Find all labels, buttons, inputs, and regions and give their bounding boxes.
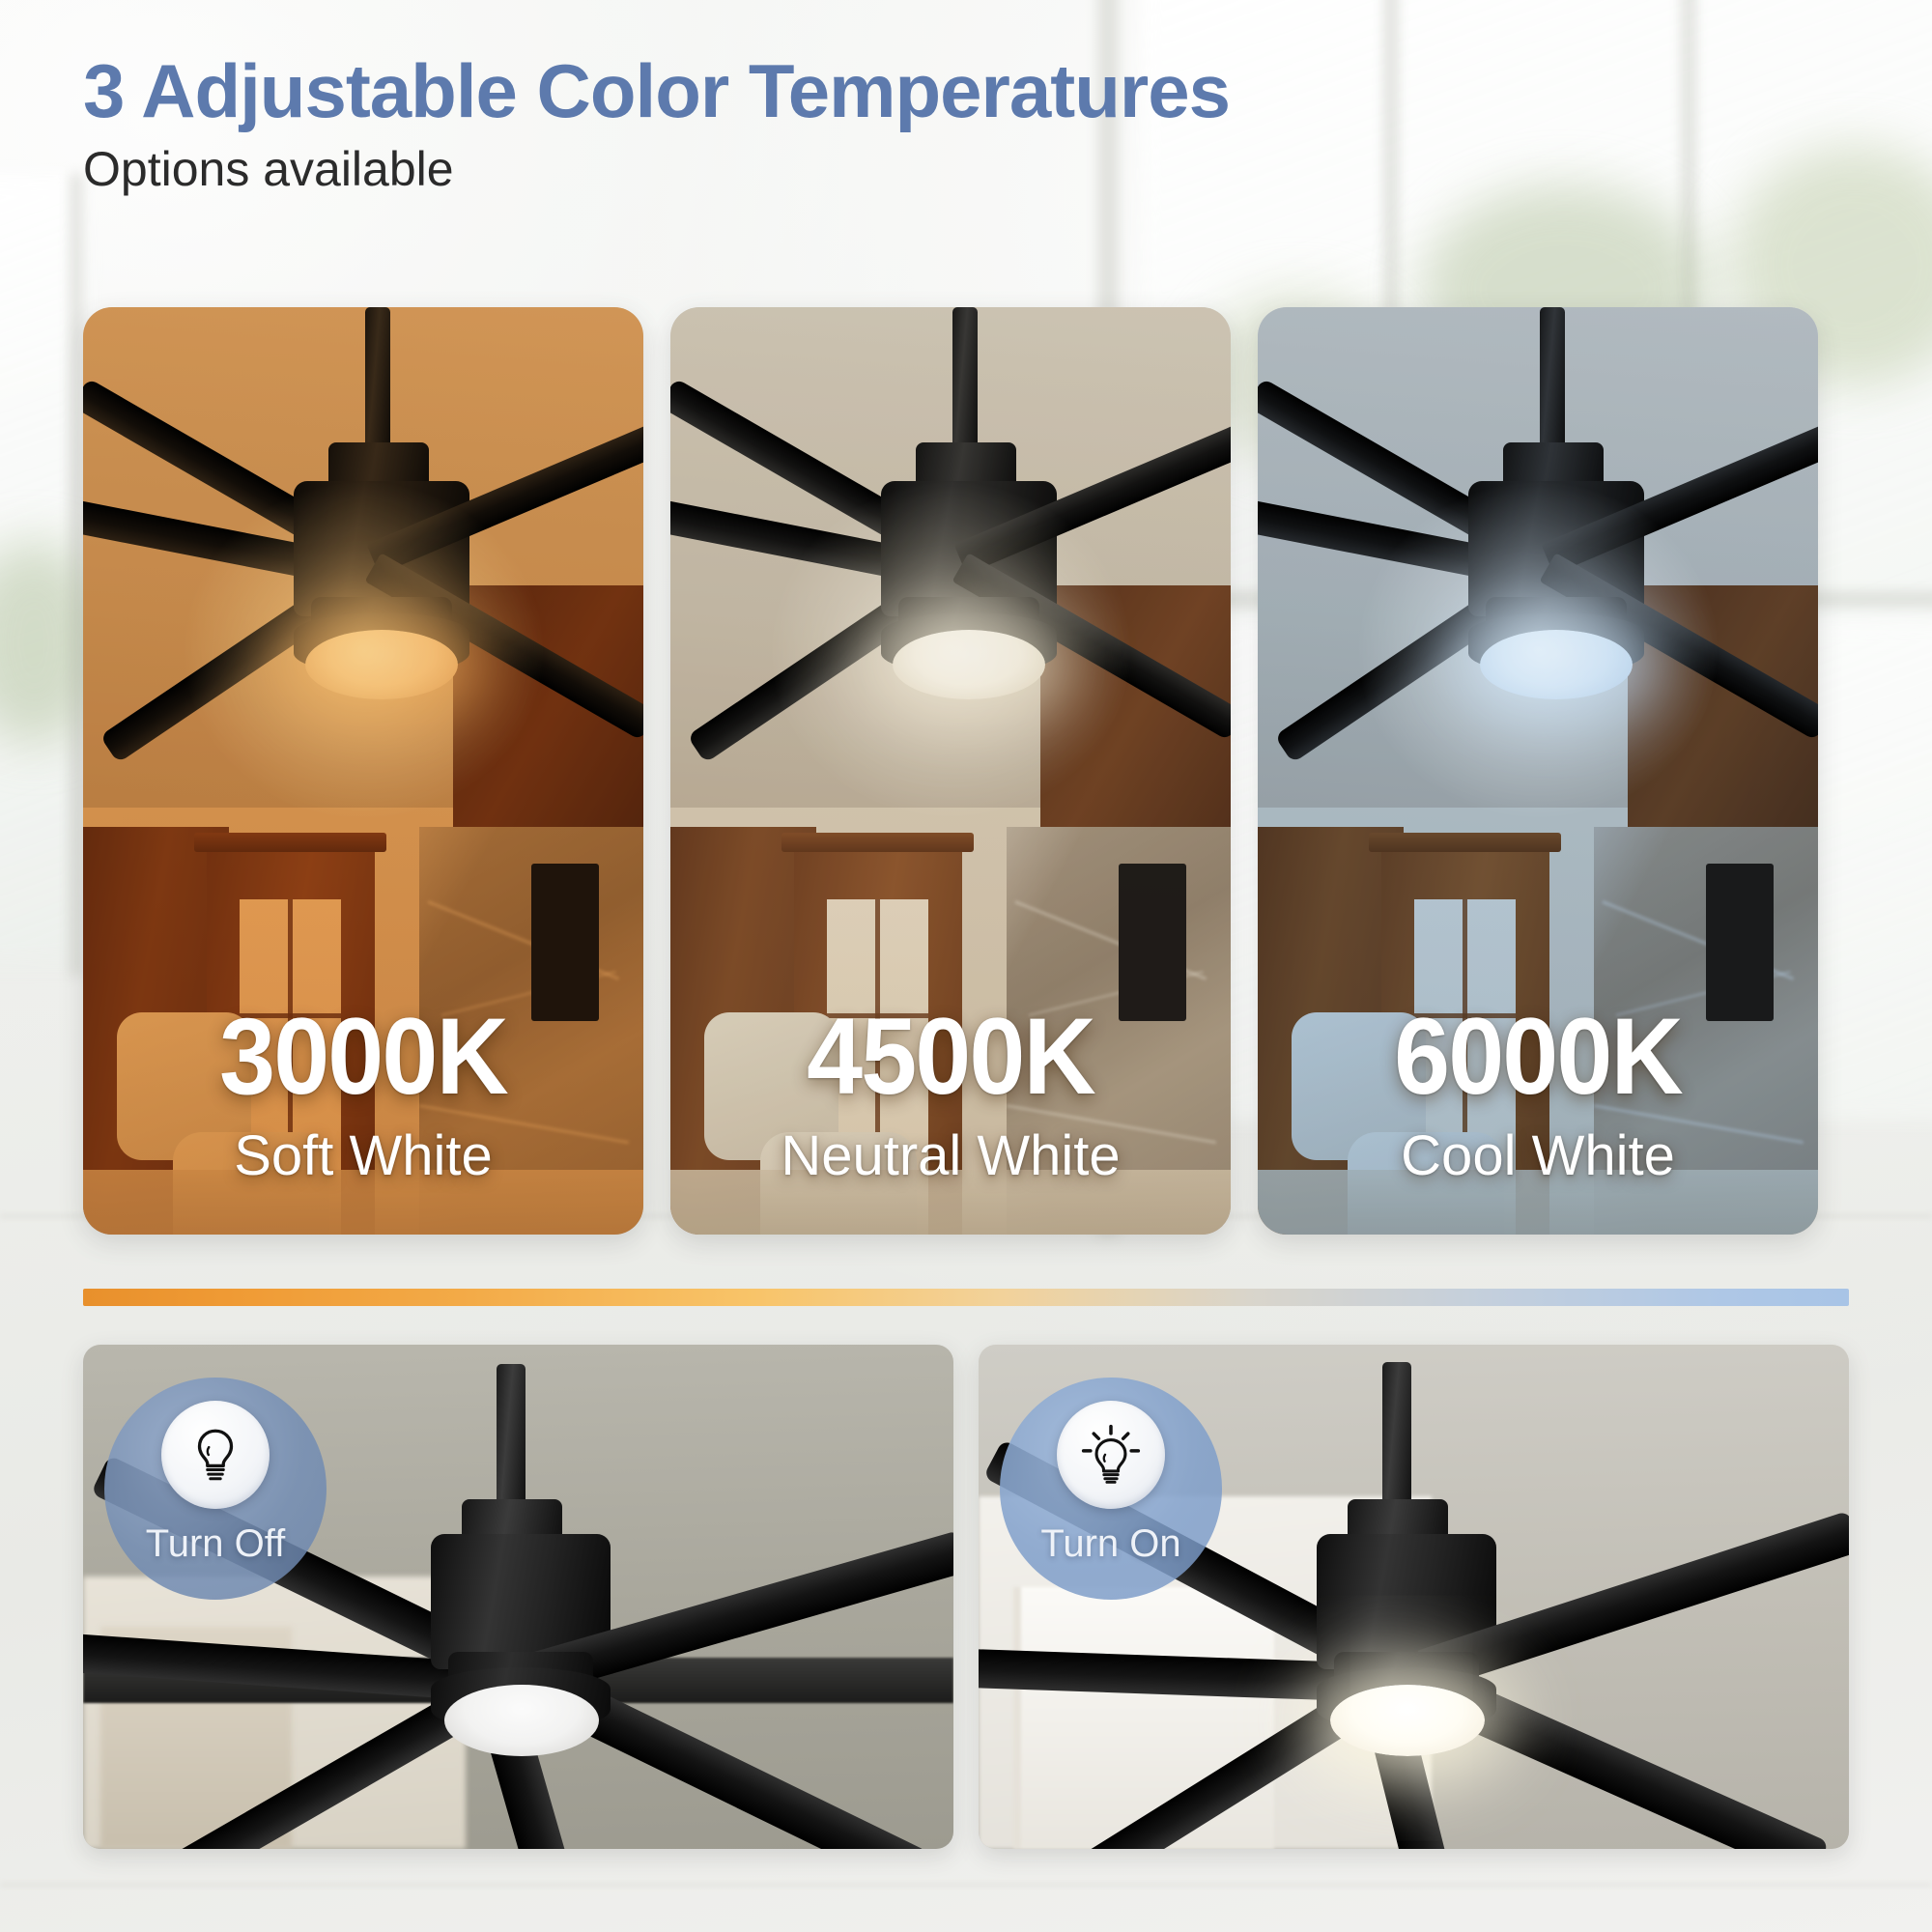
fan-downrod — [497, 1364, 526, 1509]
color-gradient-divider — [83, 1289, 1849, 1306]
light-state-badge[interactable]: Turn On — [1000, 1378, 1222, 1600]
kelvin-value: 6000K — [1277, 1003, 1798, 1111]
page-title: 3 Adjustable Color Temperatures — [83, 50, 1230, 131]
light-state-card-row: Turn Off — [83, 1345, 1849, 1849]
fan-light-lens — [1330, 1685, 1485, 1756]
light-state-label: Turn Off — [104, 1524, 327, 1563]
bulb-badge-circle — [1057, 1401, 1165, 1509]
page-subtitle: Options available — [83, 143, 1230, 196]
color-temperature-card[interactable]: 3000K Soft White — [83, 307, 643, 1235]
light-state-card[interactable]: Turn Off — [83, 1345, 953, 1849]
bulb-on-icon — [1079, 1423, 1143, 1487]
bulb-off-icon — [184, 1423, 247, 1487]
light-state-label: Turn On — [1000, 1524, 1222, 1563]
kelvin-name: Soft White — [83, 1128, 643, 1184]
kelvin-value: 4500K — [690, 1003, 1210, 1111]
fan-light-lens — [444, 1685, 599, 1756]
header: 3 Adjustable Color Temperatures Options … — [83, 50, 1230, 196]
color-temperature-card[interactable]: 6000K Cool White — [1258, 307, 1818, 1235]
kelvin-name: Cool White — [1258, 1128, 1818, 1184]
kelvin-name: Neutral White — [670, 1128, 1231, 1184]
light-state-badge[interactable]: Turn Off — [104, 1378, 327, 1600]
color-temperature-card-row: 3000K Soft White — [83, 307, 1818, 1235]
floor-line — [0, 1884, 1932, 1886]
light-state-card[interactable]: Turn On — [979, 1345, 1849, 1849]
bulb-badge-circle — [161, 1401, 270, 1509]
fan-downrod — [1382, 1362, 1411, 1509]
kelvin-value: 3000K — [102, 1003, 623, 1111]
color-temperature-card[interactable]: 4500K Neutral White — [670, 307, 1231, 1235]
